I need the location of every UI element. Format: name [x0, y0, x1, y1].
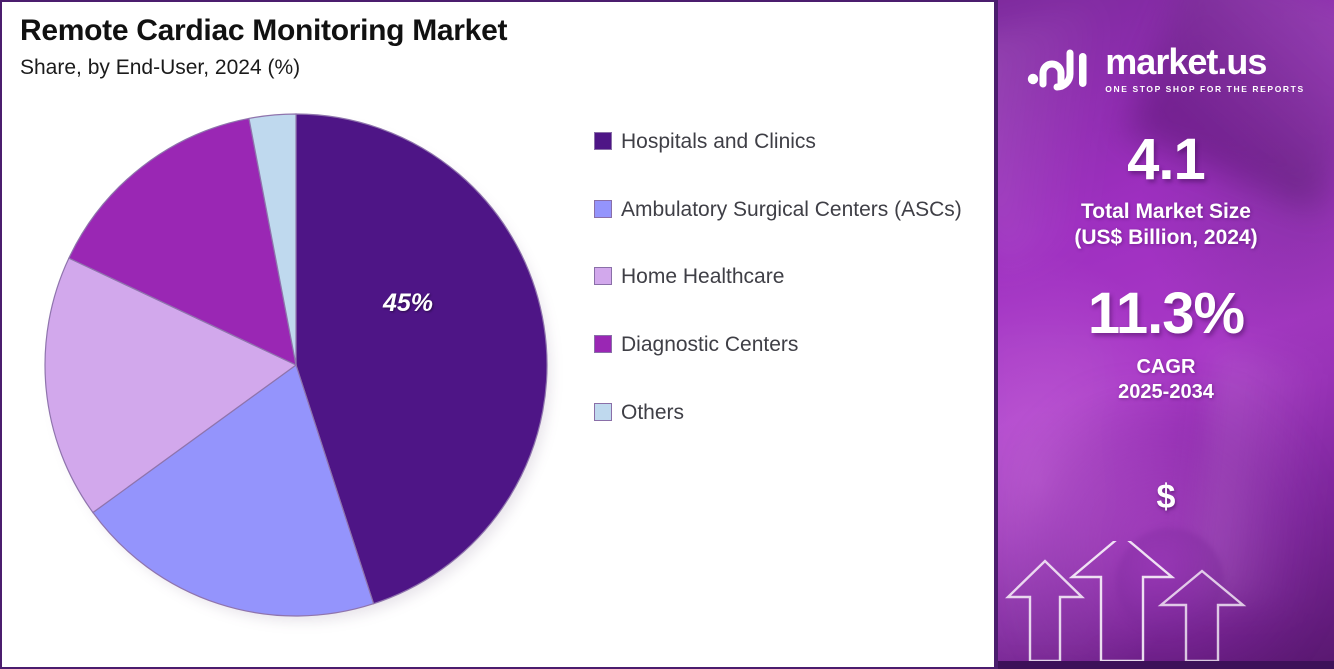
page-title: Remote Cardiac Monitoring Market [20, 14, 507, 48]
growth-arrows-icon [998, 541, 1334, 661]
legend-item-others[interactable]: Others [594, 399, 979, 427]
market-us-logo-icon [1027, 44, 1095, 94]
legend-item-label: Hospitals and Clinics [621, 128, 816, 156]
legend-color-swatch [594, 200, 612, 218]
panel-bottom-bar [998, 661, 1334, 669]
legend-color-swatch [594, 267, 612, 285]
market-size-caption-line2: (US$ Billion, 2024) [998, 225, 1334, 251]
brand-name: market.us [1105, 44, 1304, 80]
legend-item-label: Home Healthcare [621, 263, 784, 291]
legend-color-swatch [594, 403, 612, 421]
brand-stats-panel: market.us ONE STOP SHOP FOR THE REPORTS … [996, 0, 1334, 669]
pie-chart: 45% [43, 112, 549, 618]
stats-block: 4.1 Total Market Size (US$ Billion, 2024… [998, 130, 1334, 405]
arrow-up-left [1008, 561, 1082, 661]
legend-color-swatch [594, 335, 612, 353]
market-size-caption: Total Market Size (US$ Billion, 2024) [998, 199, 1334, 250]
chart-header: Remote Cardiac Monitoring Market Share, … [20, 14, 507, 80]
arrow-up-right [1161, 571, 1243, 661]
legend-item-label: Diagnostic Centers [621, 331, 798, 359]
brand-logo-text: market.us ONE STOP SHOP FOR THE REPORTS [1105, 44, 1304, 94]
market-size-value: 4.1 [998, 130, 1334, 191]
market-size-caption-line1: Total Market Size [998, 199, 1334, 225]
legend-item-ambulatory-surgical-centers[interactable]: Ambulatory Surgical Centers (ASCs) [594, 196, 979, 224]
arrow-up-center [1072, 541, 1172, 661]
legend-item-label: Ambulatory Surgical Centers (ASCs) [621, 196, 962, 224]
infographic-root: Remote Cardiac Monitoring Market Share, … [0, 0, 1334, 669]
legend-item-label: Others [621, 399, 684, 427]
legend-item-hospitals-and-clinics[interactable]: Hospitals and Clinics [594, 128, 979, 156]
pie-slice-group [45, 114, 547, 616]
brand-tagline: ONE STOP SHOP FOR THE REPORTS [1105, 84, 1304, 94]
legend-color-swatch [594, 132, 612, 150]
stats-spacer [998, 250, 1334, 284]
pie-slice-label-hospitals: 45% [383, 289, 433, 318]
pie-chart-svg [43, 112, 549, 618]
cagr-caption-line1: CAGR [998, 355, 1334, 380]
legend-item-diagnostic-centers[interactable]: Diagnostic Centers [594, 331, 979, 359]
cagr-value: 11.3% [998, 284, 1334, 345]
chart-subtitle: Share, by End-User, 2024 (%) [20, 56, 507, 80]
brand-logo[interactable]: market.us ONE STOP SHOP FOR THE REPORTS [998, 44, 1334, 94]
legend-item-home-healthcare[interactable]: Home Healthcare [594, 263, 979, 291]
chart-legend: Hospitals and Clinics Ambulatory Surgica… [594, 128, 979, 467]
chart-panel: Remote Cardiac Monitoring Market Share, … [0, 0, 996, 669]
cagr-caption-line2: 2025-2034 [998, 380, 1334, 405]
cagr-caption: CAGR 2025-2034 [998, 355, 1334, 405]
dollar-sign-icon: $ [998, 478, 1334, 517]
